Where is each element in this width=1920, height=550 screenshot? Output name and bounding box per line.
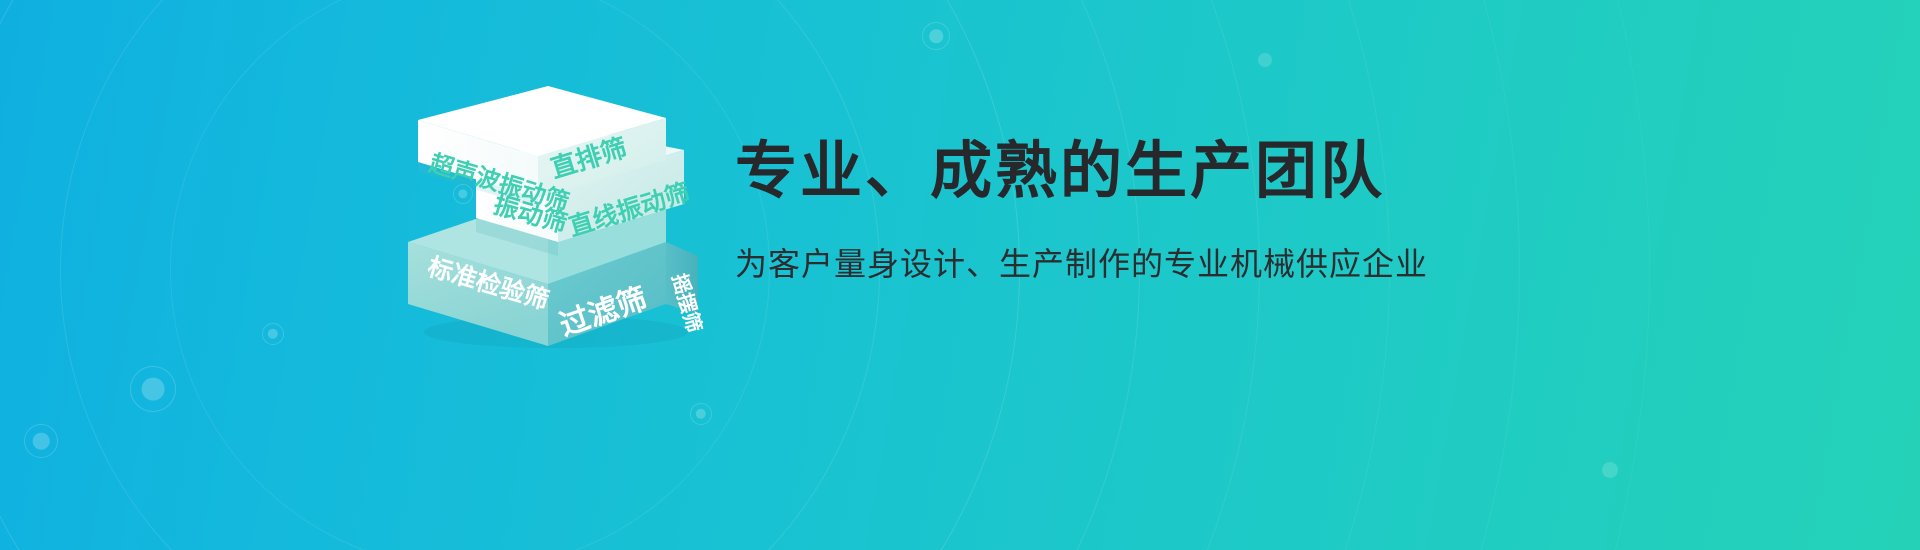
decor-dot: [922, 22, 950, 50]
decor-dot: [130, 366, 176, 412]
stacked-screens-illustration: 标准检验筛 过滤筛 摇摆筛 振动筛 直线振动筛: [388, 46, 728, 346]
decor-dot: [262, 323, 284, 345]
decor-dot: [690, 403, 712, 425]
banner-headline: 专业、成熟的生产团队: [735, 136, 1835, 208]
decor-dot: [24, 424, 58, 458]
decor-dot: [1258, 53, 1272, 67]
hero-banner: 标准检验筛 过滤筛 摇摆筛 振动筛 直线振动筛: [0, 0, 1920, 550]
banner-subhead: 为客户量身设计、生产制作的专业机械供应企业: [735, 244, 1835, 284]
decor-dot: [1602, 462, 1618, 478]
banner-copy: 专业、成熟的生产团队 为客户量身设计、生产制作的专业机械供应企业: [735, 136, 1835, 284]
